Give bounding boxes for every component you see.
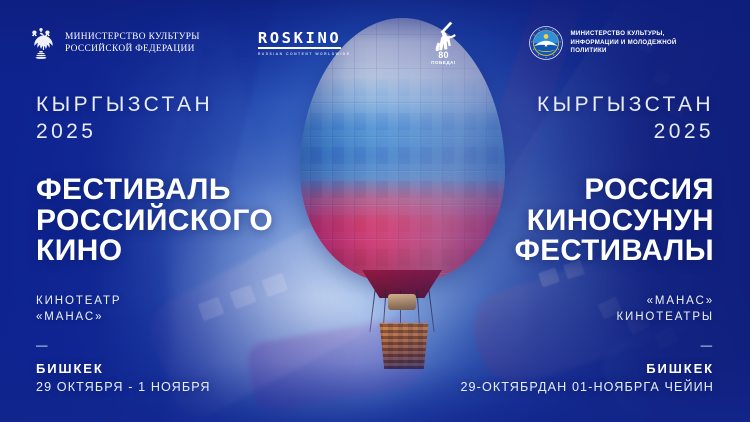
roskino-tagline: RUSSIAN CONTENT WORLDWIDE (258, 52, 351, 56)
sponsor-logo-bar: МИНИСТЕРСТВО КУЛЬТУРЫ РОССИЙСКОЙ ФЕДЕРАЦ… (0, 0, 750, 86)
victory-label: ПОБЕДА! (431, 60, 456, 66)
right-text-column: КЫРГЫЗСТАН 2025 РОССИЯ КИНОСУНУН ФЕСТИВА… (384, 92, 714, 395)
ministry-russia-label: МИНИСТЕРСТВО КУЛЬТУРЫ РОССИЙСКОЙ ФЕДЕРАЦ… (65, 31, 200, 55)
double-headed-eagle-icon (26, 26, 56, 60)
right-headline: РОССИЯ КИНОСУНУН ФЕСТИВАЛЫ (384, 175, 714, 267)
kyrgyzstan-state-emblem-icon (529, 26, 563, 60)
right-country: КЫРГЫЗСТАН (384, 92, 714, 118)
victory-number: 80 (438, 51, 448, 60)
left-headline: ФЕСТИВАЛЬ РОССИЙСКОГО КИНО (36, 175, 366, 267)
logo-ministry-culture-kyrgyzstan: МИНИСТЕРСТВО КУЛЬТУРЫ, ИНФОРМАЦИИ И МОЛО… (529, 26, 677, 60)
logo-ministry-culture-russia: МИНИСТЕРСТВО КУЛЬТУРЫ РОССИЙСКОЙ ФЕДЕРАЦ… (26, 26, 200, 60)
right-venue: «МАНАС» КИНОТЕАТРЫ (384, 293, 714, 325)
logo-roskino: ROSKINO RUSSIAN CONTENT WORLDWIDE (258, 30, 351, 56)
left-text-column: КЫРГЫЗСТАН 2025 ФЕСТИВАЛЬ РОССИЙСКОГО КИ… (36, 92, 366, 395)
left-venue: КИНОТЕАТР «МАНАС» (36, 293, 366, 325)
left-country: КЫРГЫЗСТАН (36, 92, 366, 118)
motherland-calls-statue-icon (427, 21, 461, 53)
festival-poster: МИНИСТЕРСТВО КУЛЬТУРЫ РОССИЙСКОЙ ФЕДЕРАЦ… (0, 0, 750, 422)
roskino-wordmark: ROSKINO (258, 30, 342, 49)
right-city: БИШКЕК (384, 361, 714, 376)
right-dates: 29-ОКТЯБРДАН 01-НОЯБРГА ЧЕЙИН (384, 379, 714, 395)
logo-victory-80: 80 ПОБЕДА! (427, 21, 461, 66)
ministry-kyrgyzstan-label: МИНИСТЕРСТВО КУЛЬТУРЫ, ИНФОРМАЦИИ И МОЛО… (571, 30, 677, 56)
right-year: 2025 (384, 118, 714, 145)
left-city: БИШКЕК (36, 361, 366, 376)
left-dash: — (36, 340, 366, 352)
right-dash: — (384, 340, 714, 352)
left-dates: 29 ОКТЯБРЯ - 1 НОЯБРЯ (36, 379, 366, 395)
left-year: 2025 (36, 118, 366, 145)
